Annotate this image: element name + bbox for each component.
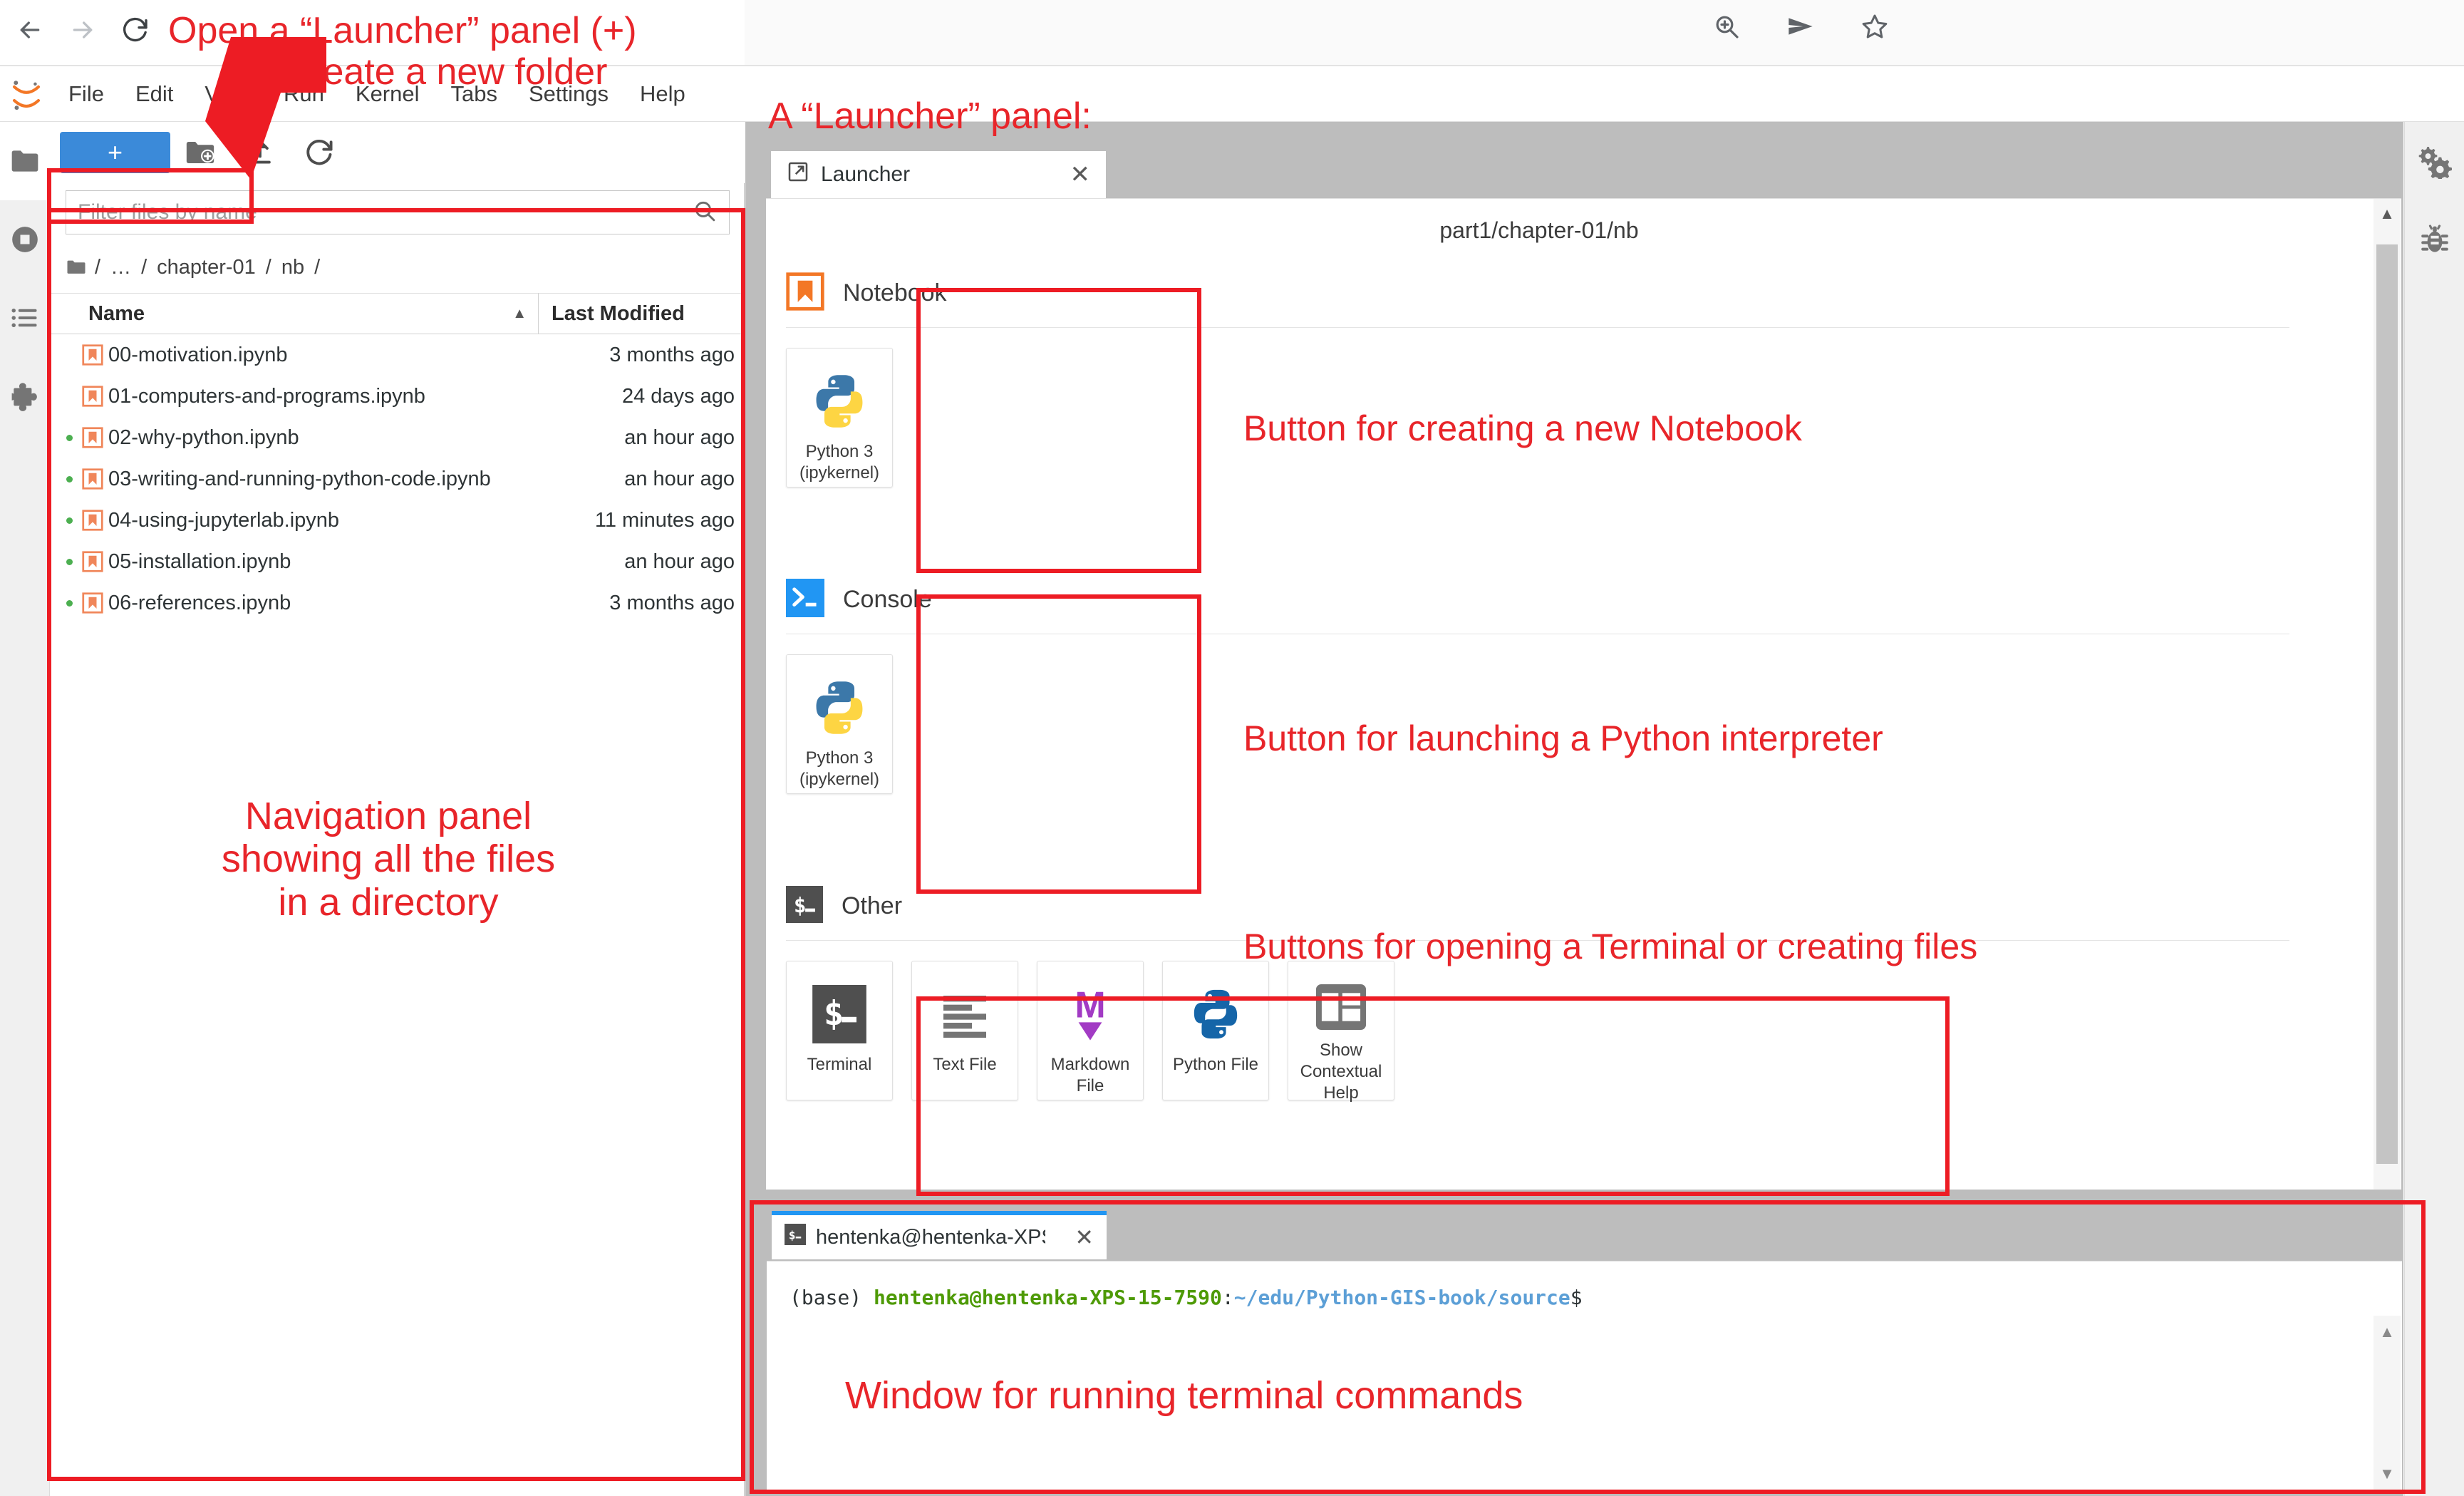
notebook-file-icon [77, 592, 108, 614]
scroll-down-icon[interactable]: ▼ [2374, 1465, 2401, 1483]
launcher-section-notebook-title: Notebook [843, 279, 947, 307]
file-last-modified: 24 days ago [537, 385, 745, 408]
launcher-section-console: Console Python 3 (ipykernel) [766, 565, 2312, 794]
file-last-modified: 3 months ago [537, 592, 745, 615]
column-header-name-label: Name [88, 302, 145, 326]
browser-bg-right [1885, 0, 2464, 66]
contextual-help-icon [1313, 980, 1370, 1034]
tab-terminal[interactable]: $ hentenka@hentenka-XPS-1! ✕ [772, 1211, 1107, 1259]
table-row[interactable]: 05-installation.ipynban hour ago [50, 541, 745, 582]
launcher-notebook-cards: Python 3 (ipykernel) [766, 328, 2312, 488]
sidebar-item-debugger[interactable] [2405, 200, 2464, 279]
search-icon [692, 198, 718, 227]
sidebar-item-extensions[interactable] [0, 357, 50, 435]
table-row[interactable]: 06-references.ipynb3 months ago [50, 582, 745, 624]
forward-icon[interactable] [63, 10, 103, 50]
breadcrumb-chapter-01[interactable]: chapter-01 [152, 256, 261, 279]
text-file-icon [936, 980, 993, 1048]
show-contextual-help-button[interactable]: Show Contextual Help [1288, 961, 1394, 1100]
file-list: 00-motivation.ipynb3 months ago01-comput… [50, 334, 745, 624]
sort-ascending-icon: ▲ [512, 306, 527, 322]
file-name: 05-installation.ipynb [108, 550, 537, 574]
breadcrumb: / … / chapter-01 / nb / [66, 249, 730, 286]
scroll-up-icon[interactable]: ▲ [2374, 205, 2401, 223]
file-list-header: Name ▲ Last Modified [50, 293, 745, 334]
launcher-body: part1/chapter-01/nb Notebook [766, 198, 2401, 1190]
menu-file[interactable]: File [53, 77, 120, 111]
file-last-modified: an hour ago [537, 550, 745, 574]
annotation-launcher-panel: A “Launcher” panel: [768, 96, 1092, 137]
launcher-scrollbar[interactable]: ▲ [2374, 199, 2401, 1190]
notebook-file-icon [77, 510, 108, 531]
terminal-icon: $ [786, 886, 823, 927]
file-last-modified: 11 minutes ago [537, 509, 745, 532]
markdown-icon: M [1062, 980, 1118, 1048]
create-python-file-label: Python File [1170, 1054, 1261, 1075]
launcher-section-console-title: Console [843, 586, 932, 614]
terminal-icon: $ [785, 1224, 806, 1251]
table-row[interactable]: 02-why-python.ipynban hour ago [50, 417, 745, 458]
terminal-user-host: hentenka@hentenka-XPS-15-7590 [874, 1286, 1222, 1309]
create-markdown-file-button[interactable]: M Markdown File [1037, 961, 1144, 1100]
bookmark-star-icon[interactable] [1858, 10, 1891, 43]
running-kernel-indicator [61, 517, 77, 524]
create-python-file-button[interactable]: Python File [1162, 961, 1269, 1100]
launch-terminal-button[interactable]: $ Terminal [786, 961, 893, 1100]
running-kernel-indicator [61, 435, 77, 441]
launch-python3-console-button[interactable]: Python 3 (ipykernel) [786, 654, 893, 794]
launch-python3-notebook-label: Python 3 (ipykernel) [787, 441, 892, 484]
file-last-modified: an hour ago [537, 426, 745, 450]
terminal-panel: $ hentenka@hentenka-XPS-1! ✕ (base) hent… [766, 1207, 2401, 1492]
column-header-name[interactable]: Name ▲ [50, 302, 538, 326]
file-name: 02-why-python.ipynb [108, 426, 537, 450]
sidebar-item-file-browser[interactable] [0, 122, 50, 200]
share-icon[interactable] [1784, 10, 1817, 43]
python-icon [809, 367, 870, 435]
breadcrumb-sep-3: / [309, 256, 325, 279]
terminal-icon: $ [812, 980, 866, 1048]
breadcrumb-ellipsis[interactable]: … [105, 256, 136, 279]
sidebar-item-property-inspector[interactable] [2405, 122, 2464, 200]
file-name: 00-motivation.ipynb [108, 344, 537, 367]
terminal-colon: : [1222, 1286, 1234, 1309]
launcher-console-cards: Python 3 (ipykernel) [766, 634, 2312, 794]
launcher-section-notebook-head: Notebook [766, 259, 2312, 327]
notebook-file-icon [77, 427, 108, 448]
notebook-bookmark-icon [786, 272, 824, 314]
reload-icon[interactable] [115, 10, 155, 50]
file-last-modified: an hour ago [537, 468, 745, 491]
table-row[interactable]: 04-using-jupyterlab.ipynb11 minutes ago [50, 500, 745, 541]
create-markdown-file-label: Markdown File [1037, 1054, 1143, 1097]
running-kernel-indicator [61, 476, 77, 483]
terminal-dollar: $ [1570, 1286, 1583, 1309]
file-name: 03-writing-and-running-python-code.ipynb [108, 468, 537, 491]
notebook-file-icon [77, 344, 108, 366]
notebook-file-icon [77, 468, 108, 490]
left-activity-bar [0, 122, 50, 1496]
tab-launcher[interactable]: Launcher ✕ [771, 151, 1106, 198]
annotation-navigation-panel: Navigation panel showing all the files i… [125, 795, 652, 924]
breadcrumb-sep-2: / [261, 256, 276, 279]
zoom-in-icon[interactable] [1710, 10, 1743, 43]
terminal-path: ~/edu/Python-GIS-book/source [1234, 1286, 1570, 1309]
annotation-new-notebook: Button for creating a new Notebook [1243, 408, 1802, 448]
launcher-section-other-title: Other [842, 892, 902, 920]
close-icon[interactable]: ✕ [1075, 1224, 1094, 1251]
terminal-env: (base) [790, 1286, 874, 1309]
browser-nav-buttons [10, 10, 155, 50]
terminal-prompt-line: (base) hentenka@hentenka-XPS-15-7590:~/e… [790, 1286, 1583, 1309]
create-text-file-label: Text File [930, 1054, 999, 1075]
column-header-last-modified[interactable]: Last Modified [538, 293, 745, 334]
back-icon[interactable] [10, 10, 50, 50]
breadcrumb-nb[interactable]: nb [276, 256, 309, 279]
annotation-other-buttons: Buttons for opening a Terminal or creati… [1243, 927, 1977, 966]
running-kernel-indicator [61, 600, 77, 607]
python-icon [809, 674, 870, 742]
jupyter-logo-icon [0, 76, 53, 113]
running-kernel-indicator [61, 559, 77, 565]
file-name: 06-references.ipynb [108, 592, 537, 615]
file-name: 01-computers-and-programs.ipynb [108, 385, 537, 408]
notebook-file-icon [77, 386, 108, 407]
breadcrumb-sep-1: / [136, 256, 152, 279]
file-last-modified: 3 months ago [537, 344, 745, 367]
scroll-up-icon[interactable]: ▲ [2374, 1323, 2401, 1341]
notebook-file-icon [77, 551, 108, 572]
tab-terminal-label: hentenka@hentenka-XPS-1! [816, 1226, 1045, 1249]
svg-text:$: $ [824, 994, 844, 1033]
svg-text:M: M [1075, 985, 1105, 1026]
svg-text:$: $ [794, 893, 807, 917]
sidebar-item-running[interactable] [0, 200, 50, 279]
launcher-section-console-head: Console [766, 565, 2312, 634]
launch-python3-notebook-button[interactable]: Python 3 (ipykernel) [786, 348, 893, 488]
search-input[interactable]: Filter files by name [66, 190, 730, 234]
table-row[interactable]: 03-writing-and-running-python-code.ipynb… [50, 458, 745, 500]
search-input-placeholder: Filter files by name [78, 200, 692, 225]
console-icon [786, 579, 824, 621]
table-row[interactable]: 00-motivation.ipynb3 months ago [50, 334, 745, 376]
close-icon[interactable]: ✕ [1070, 163, 1091, 187]
launcher-section-other: $ Other $ Terminal [766, 872, 2312, 1100]
annotation-terminal-window: Window for running terminal commands [845, 1374, 1523, 1417]
right-activity-bar [2404, 122, 2464, 1496]
annotation-python-interpreter: Button for launching a Python interprete… [1243, 718, 1883, 758]
file-name: 04-using-jupyterlab.ipynb [108, 509, 537, 532]
new-launcher-button[interactable]: + [60, 132, 170, 173]
launch-python3-console-label: Python 3 (ipykernel) [787, 748, 892, 790]
launcher-scrollbar-thumb[interactable] [2376, 244, 2398, 1164]
python-file-icon [1187, 980, 1244, 1048]
launcher-icon [787, 160, 809, 189]
show-contextual-help-label: Show Contextual Help [1288, 1040, 1394, 1104]
launcher-section-notebook: Notebook Python 3 (ipykernel) [766, 259, 2312, 488]
svg-text:$: $ [789, 1228, 796, 1242]
sidebar-item-table-of-contents[interactable] [0, 279, 50, 357]
breadcrumb-sep-0: / [90, 256, 105, 279]
table-row[interactable]: 01-computers-and-programs.ipynb24 days a… [50, 376, 745, 417]
create-text-file-button[interactable]: Text File [911, 961, 1018, 1100]
launch-terminal-label: Terminal [804, 1054, 875, 1075]
file-browser-toolbar: + [50, 122, 745, 183]
breadcrumb-home-icon[interactable] [66, 257, 87, 278]
launcher-cwd: part1/chapter-01/nb [766, 217, 2312, 244]
omnibox-icons [1710, 10, 1891, 43]
terminal-scrollbar[interactable]: ▲ ▼ [2374, 1316, 2401, 1490]
annotation-arrow-icon [162, 37, 326, 180]
tab-launcher-label: Launcher [821, 163, 910, 187]
